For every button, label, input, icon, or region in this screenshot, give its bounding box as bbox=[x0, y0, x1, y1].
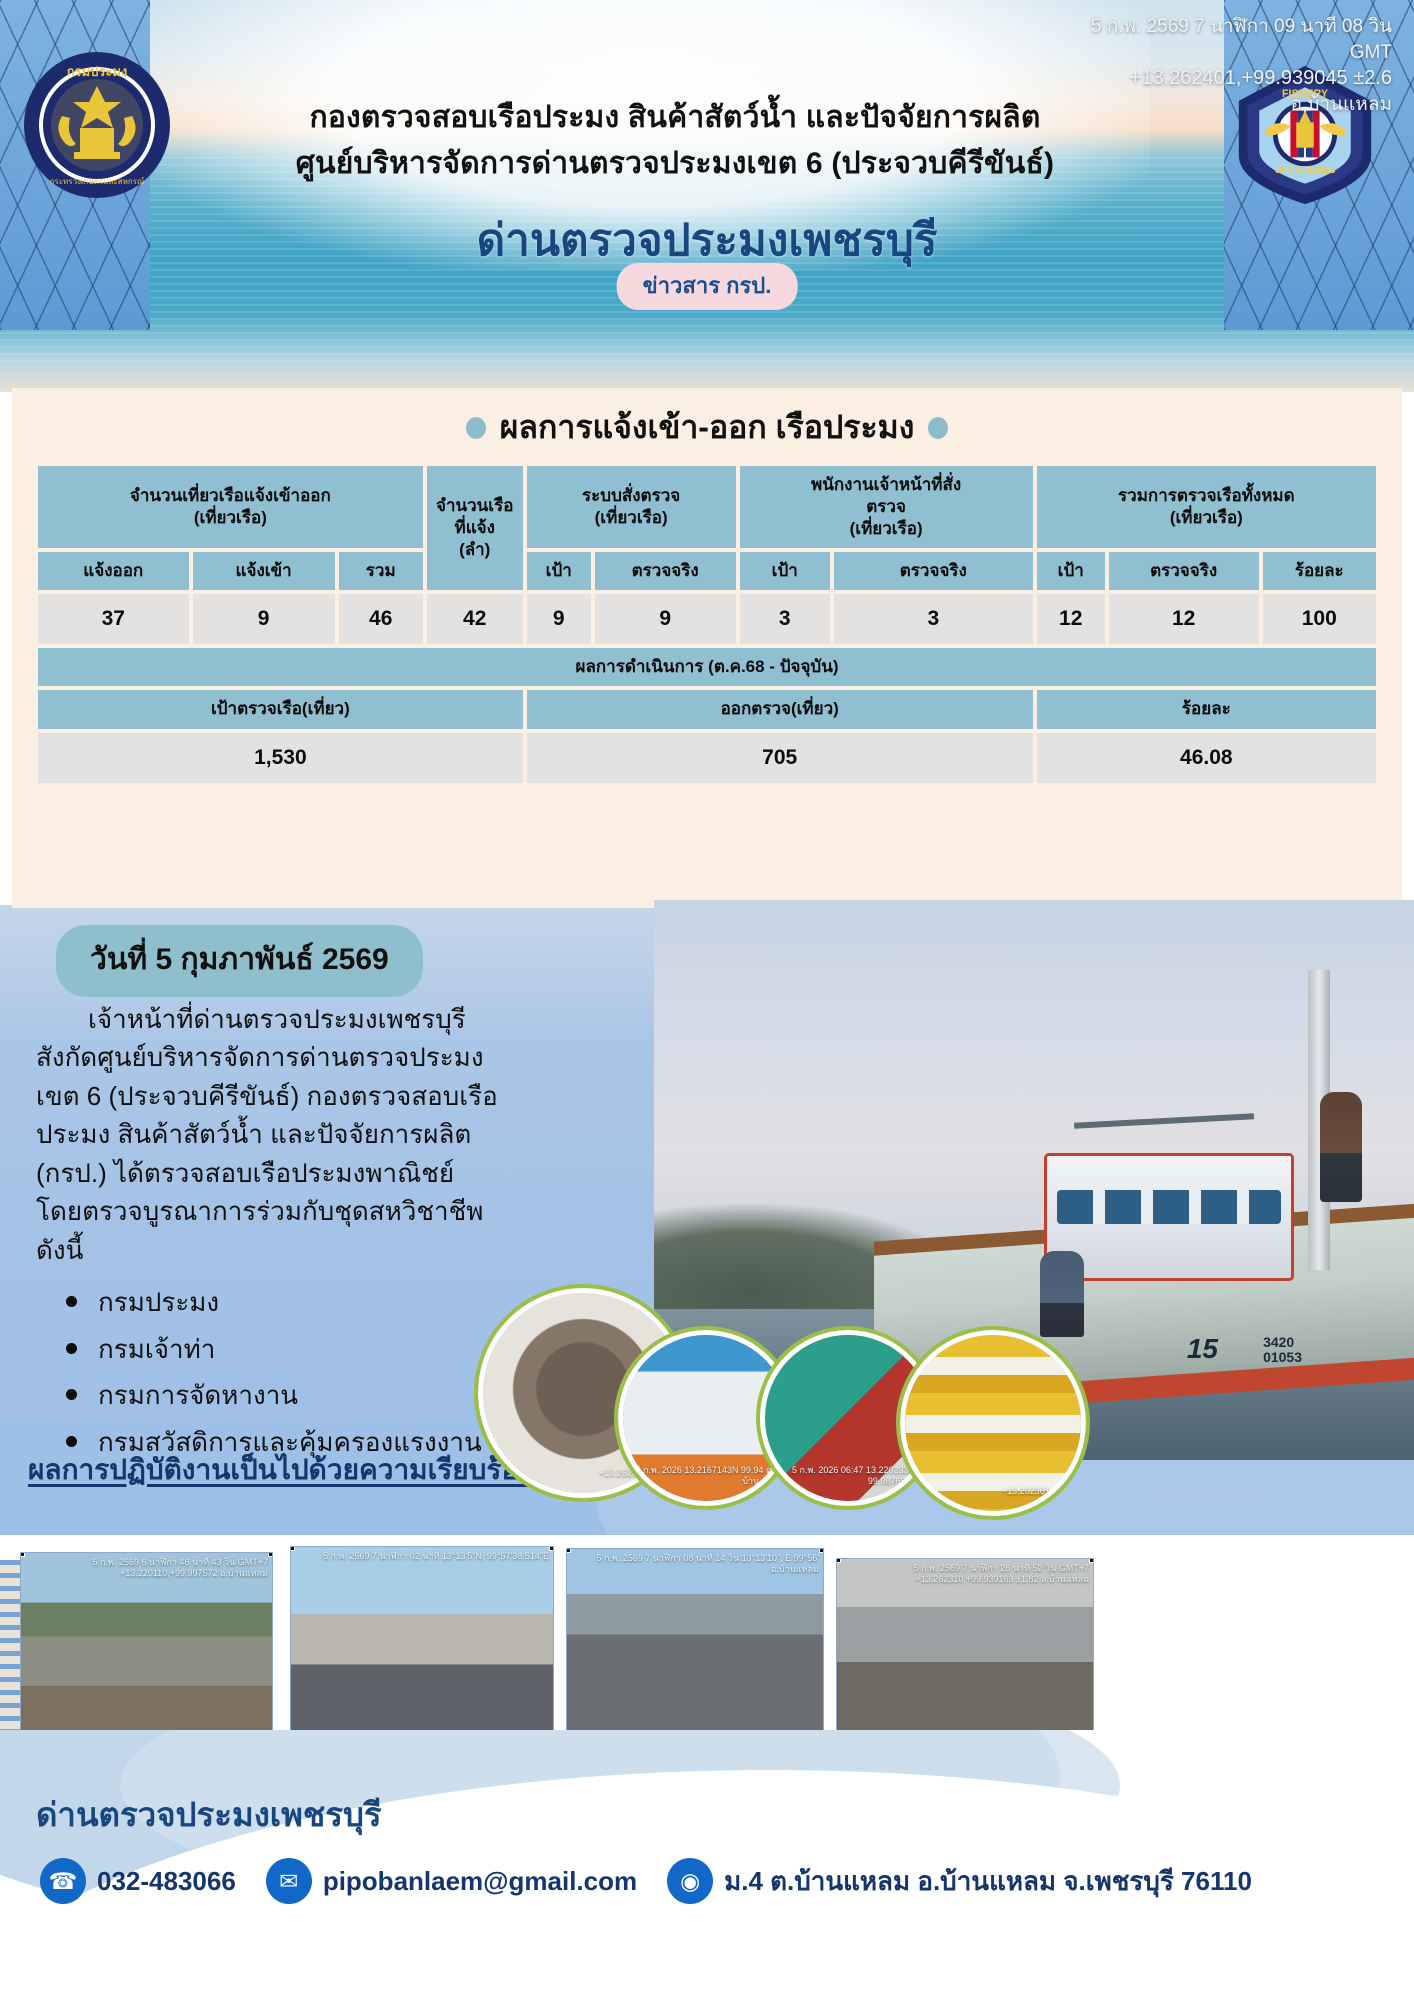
th-sub-5: เป้า bbox=[740, 552, 830, 590]
td-value-1: 9 bbox=[193, 594, 335, 644]
th-group-trips-label: จำนวนเที่ยวเรือแจ้งเข้าออก bbox=[130, 486, 331, 505]
strip-photo-3-timestamp: 5 ก.พ. 2569 7 นาฬิกา 08 นาที 14 วิน 13°1… bbox=[567, 1553, 819, 1576]
th-group-system-label: ระบบสั่งตรวจ bbox=[582, 486, 680, 505]
strip-photo-1-timestamp: 5 ก.พ. 2569 6 นาฬิกา 46 นาที 43 วิน GMT+… bbox=[21, 1557, 268, 1580]
selection-handle[interactable] bbox=[819, 1548, 824, 1553]
department-list: กรมประมง กรมเจ้าท่า กรมการจัดหางาน กรมสว… bbox=[36, 1283, 506, 1461]
th-group-officer: พนักงานเจ้าหน้าที่สั่ง ตรวจ (เที่ยวเรือ) bbox=[740, 466, 1033, 548]
th-group-officer-l1: พนักงานเจ้าหน้าที่สั่ง bbox=[811, 475, 961, 494]
selection-handle[interactable] bbox=[20, 1552, 25, 1557]
strip-photo-2-timestamp: 5 ก.พ. 2569 7 นาฬิกา 02 นาที 13°13'5"N, … bbox=[323, 1551, 549, 1562]
svg-text:กรมประมง: กรมประมง bbox=[67, 65, 128, 80]
th-group-system-unit: (เที่ยวเรือ) bbox=[595, 508, 668, 527]
list-item: กรมประมง bbox=[36, 1283, 506, 1321]
td-value-8: 12 bbox=[1037, 594, 1105, 644]
bullet-dot-left-icon bbox=[466, 417, 486, 439]
table-section2-value-row: 1,530 705 46.08 bbox=[38, 733, 1376, 783]
th-sub-7: เป้า bbox=[1037, 552, 1105, 590]
phone-number: 032-483066 bbox=[97, 1866, 236, 1897]
conclusion-text: ผลการปฏิบัติงานเป็นไปด้วยความเรียบร้อย bbox=[28, 1448, 535, 1492]
th-s2-2: ร้อยละ bbox=[1037, 690, 1376, 728]
th-group-total-unit: (เที่ยวเรือ) bbox=[1170, 508, 1243, 527]
th-sub-3: เป้า bbox=[527, 552, 591, 590]
th-sub-1: แจ้งเข้า bbox=[193, 552, 335, 590]
results-panel: ผลการแจ้งเข้า-ออก เรือประมง จำนวนเที่ยวเ… bbox=[12, 388, 1402, 908]
th-vessel-count-l2: ที่แจ้ง bbox=[455, 518, 495, 537]
panel-title: ผลการแจ้งเข้า-ออก เรือประมง bbox=[12, 388, 1402, 453]
selection-handle[interactable] bbox=[1089, 1558, 1094, 1563]
th-sub-9: ร้อยละ bbox=[1263, 552, 1377, 590]
th-sub-4: ตรวจจริง bbox=[595, 552, 736, 590]
footer: ด่านตรวจประมงเพชรบุรี ☎ 032-483066 ✉ pip… bbox=[0, 1730, 1414, 2000]
strip-photo-4-timestamp: 5 ก.พ. 2569 7 นาฬิกา 26 นาที 52 วิน GMT+… bbox=[837, 1563, 1089, 1586]
th-group-total: รวมการตรวจเรือทั้งหมด (เที่ยวเรือ) bbox=[1037, 466, 1376, 548]
th-s2-0: เป้าตรวจเรือ(เที่ยว) bbox=[38, 690, 523, 728]
th-sub-0: แจ้งออก bbox=[38, 552, 189, 590]
selection-handle[interactable] bbox=[268, 1552, 273, 1557]
contact-email[interactable]: ✉ pipobanlaem@gmail.com bbox=[266, 1858, 637, 1904]
list-item: กรมเจ้าท่า bbox=[36, 1330, 506, 1368]
selection-handle[interactable] bbox=[290, 1546, 295, 1551]
th-vessel-count: จำนวนเรือ ที่แจ้ง (ลำ) bbox=[427, 466, 523, 590]
td-value-5: 9 bbox=[595, 594, 736, 644]
phone-icon: ☎ bbox=[40, 1858, 86, 1904]
table-section2-header-row: เป้าตรวจเรือ(เที่ยว) ออกตรวจ(เที่ยว) ร้อ… bbox=[38, 690, 1376, 728]
inset-photo-buckets: +13.262361,+99.9 bbox=[900, 1330, 1086, 1516]
strip-photo-2: 5 ก.พ. 2569 7 นาฬิกา 02 นาที 13°13'5"N, … bbox=[290, 1546, 554, 1758]
inset3-caption: 5 ก.พ. 2026 06:47 13.22023345N 99.98765 … bbox=[765, 1465, 925, 1488]
strip-photo-1: 5 ก.พ. 2569 6 นาฬิกา 46 นาที 43 วิน GMT+… bbox=[20, 1552, 273, 1744]
table-section2-title-row: ผลการดำเนินการ (ต.ค.68 - ปัจจุบัน) bbox=[38, 648, 1376, 686]
td-s2-2: 46.08 bbox=[1037, 733, 1376, 783]
date-badge: วันที่ 5 กุมภาพันธ์ 2569 bbox=[56, 925, 423, 997]
th-group-total-label: รวมการตรวจเรือทั้งหมด bbox=[1118, 486, 1295, 505]
th-vessel-count-l1: จำนวนเรือ bbox=[436, 496, 513, 515]
td-value-0: 37 bbox=[38, 594, 189, 644]
org-line-2: ศูนย์บริหารจัดการด่านตรวจประมงเขต 6 (ประ… bbox=[170, 141, 1180, 187]
th-group-officer-l2: ตรวจ bbox=[866, 497, 906, 516]
gps-line-1: 5 ก.พ. 2569 7 นาฬิกา 09 นาที 08 วิน bbox=[832, 14, 1392, 40]
th-s2-1: ออกตรวจ(เที่ยว) bbox=[527, 690, 1033, 728]
th-vessel-count-unit: (ลำ) bbox=[459, 540, 490, 559]
gps-line-2: GMT bbox=[832, 40, 1392, 66]
td-value-9: 12 bbox=[1109, 594, 1259, 644]
crew-member-standing bbox=[1320, 1092, 1362, 1202]
contact-phone[interactable]: ☎ 032-483066 bbox=[40, 1858, 236, 1904]
td-value-4: 9 bbox=[527, 594, 591, 644]
th-group-trips: จำนวนเที่ยวเรือแจ้งเข้าออก (เที่ยวเรือ) bbox=[38, 466, 423, 548]
table-sub-header-row: แจ้งออก แจ้งเข้า รวม เป้า ตรวจจริง เป้า … bbox=[38, 552, 1376, 590]
th-sub-2: รวม bbox=[339, 552, 423, 590]
contact-address[interactable]: ◉ ม.4 ต.บ้านแหลม อ.บ้านแหลม จ.เพชรบุรี 7… bbox=[667, 1858, 1252, 1904]
infographic-page: กรมประมง กระทรวงเกษตรและสหกรณ์ FISHERY O… bbox=[0, 0, 1414, 2000]
bullet-dot-right-icon bbox=[928, 417, 948, 439]
strip-photo-4: 5 ก.พ. 2569 7 นาฬิกา 26 นาที 52 วิน GMT+… bbox=[836, 1558, 1094, 1744]
department-of-fisheries-seal-icon: กรมประมง กระทรวงเกษตรและสหกรณ์ bbox=[22, 50, 172, 200]
email-address: pipobanlaem@gmail.com bbox=[323, 1866, 637, 1897]
hero-gps-timestamp-overlay: 5 ก.พ. 2569 7 นาฬิกา 09 นาที 08 วิน GMT … bbox=[832, 14, 1392, 118]
th-sub-6: ตรวจจริง bbox=[834, 552, 1033, 590]
news-badge: ข่าวสาร กรป. bbox=[617, 263, 798, 310]
footer-contacts: ☎ 032-483066 ✉ pipobanlaem@gmail.com ◉ ม… bbox=[40, 1858, 1270, 1904]
th-group-trips-unit: (เที่ยวเรือ) bbox=[194, 508, 267, 527]
td-value-7: 3 bbox=[834, 594, 1033, 644]
th-section2-title: ผลการดำเนินการ (ต.ค.68 - ปัจจุบัน) bbox=[38, 648, 1376, 686]
list-item: กรมการจัดหางาน bbox=[36, 1376, 506, 1414]
selection-handle[interactable] bbox=[566, 1548, 571, 1553]
gps-line-4: อ.บ้านแหลม bbox=[832, 92, 1392, 118]
td-value-3: 42 bbox=[427, 594, 523, 644]
narrative-text-block: เจ้าหน้าที่ด่านตรวจประมงเพชรบุรี สังกัดศ… bbox=[36, 1000, 506, 1469]
boat-registration-number: 15 bbox=[1187, 1333, 1218, 1365]
boat-code-line2: 01053 bbox=[1263, 1349, 1302, 1365]
gps-line-3: +13.262401,+99.939045 ±2.6 bbox=[832, 65, 1392, 92]
selection-handle[interactable] bbox=[549, 1546, 554, 1551]
table-row: 37 9 46 42 9 9 3 3 12 12 100 bbox=[38, 594, 1376, 644]
th-sub-8: ตรวจจริง bbox=[1109, 552, 1259, 590]
svg-text:OF FISHERIES: OF FISHERIES bbox=[1275, 165, 1336, 175]
th-group-system: ระบบสั่งตรวจ (เที่ยวเรือ) bbox=[527, 466, 736, 548]
address-text: ม.4 ต.บ้านแหลม อ.บ้านแหลม จ.เพชรบุรี 761… bbox=[724, 1861, 1252, 1902]
td-s2-0: 1,530 bbox=[38, 733, 523, 783]
panel-title-text: ผลการแจ้งเข้า-ออก เรือประมง bbox=[500, 402, 915, 453]
table-group-header-row: จำนวนเที่ยวเรือแจ้งเข้าออก (เที่ยวเรือ) … bbox=[38, 466, 1376, 548]
td-value-10: 100 bbox=[1263, 594, 1377, 644]
crew-member-deck bbox=[1040, 1251, 1084, 1337]
inset2-caption: 5 ก.พ. 2026 13.2167143N 99.94 ต่าน บ้าน … bbox=[623, 1465, 783, 1488]
narrative-paragraph: เจ้าหน้าที่ด่านตรวจประมงเพชรบุรี สังกัดศ… bbox=[36, 1000, 506, 1269]
fishing-vessel-report-table: จำนวนเที่ยวเรือแจ้งเข้าออก (เที่ยวเรือ) … bbox=[34, 462, 1380, 787]
td-value-2: 46 bbox=[339, 594, 423, 644]
boat-registration-code: 3420 01053 bbox=[1263, 1335, 1302, 1364]
location-pin-icon: ◉ bbox=[667, 1858, 713, 1904]
svg-text:กระทรวงเกษตรและสหกรณ์: กระทรวงเกษตรและสหกรณ์ bbox=[50, 176, 145, 186]
inset4-caption: +13.262361,+99.9 bbox=[1002, 1486, 1075, 1497]
th-group-officer-unit: (เที่ยวเรือ) bbox=[850, 519, 923, 538]
td-s2-1: 705 bbox=[527, 733, 1033, 783]
email-icon: ✉ bbox=[266, 1858, 312, 1904]
boat-code-line1: 3420 bbox=[1263, 1334, 1294, 1350]
strip-photo-3: 5 ก.พ. 2569 7 นาฬิกา 08 นาที 14 วิน 13°1… bbox=[566, 1548, 824, 1754]
td-value-6: 3 bbox=[740, 594, 830, 644]
selection-handle[interactable] bbox=[836, 1558, 841, 1563]
inset4-image bbox=[905, 1335, 1081, 1511]
footer-office-name: ด่านตรวจประมงเพชรบุรี bbox=[36, 1788, 382, 1841]
